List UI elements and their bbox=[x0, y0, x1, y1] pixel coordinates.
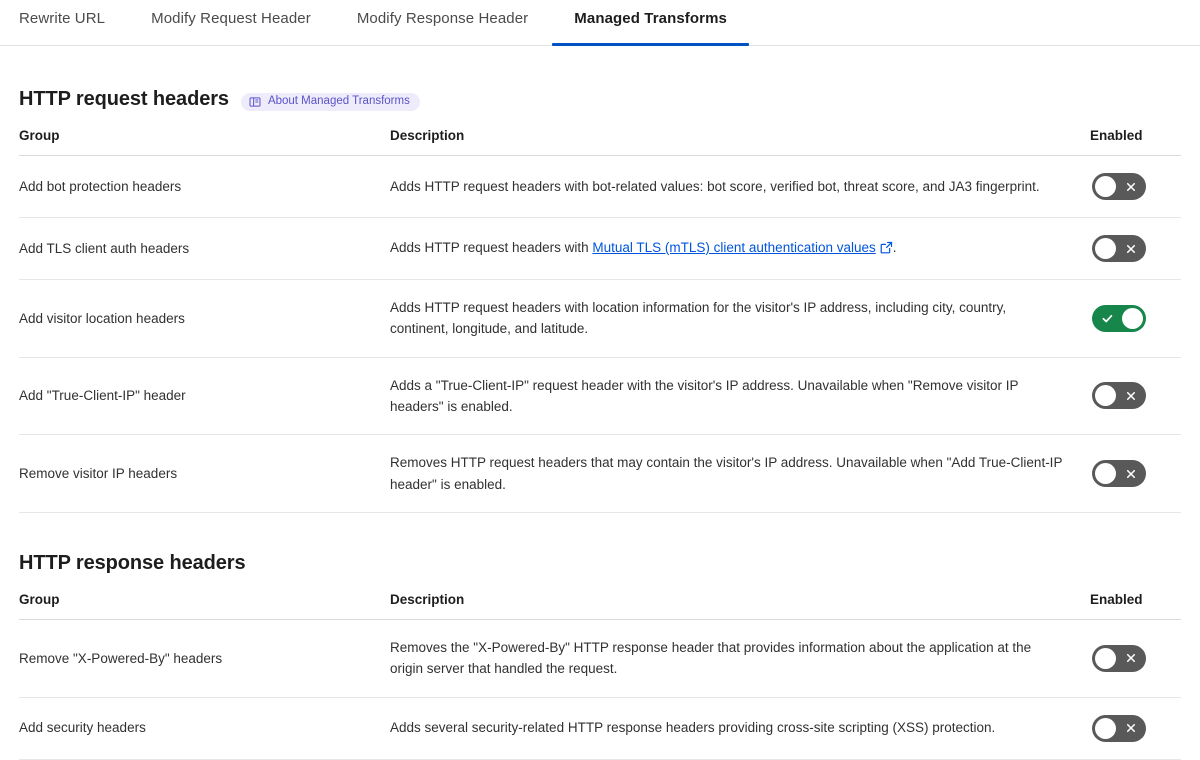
toggle-mark-icon bbox=[1116, 460, 1146, 487]
external-link-icon bbox=[880, 239, 893, 260]
toggle-mark-icon bbox=[1116, 173, 1146, 200]
row-group-name: Add security headers bbox=[19, 697, 390, 759]
mtls-documentation-link[interactable]: Mutual TLS (mTLS) client authentication … bbox=[592, 240, 875, 255]
section-header: HTTP request headersAbout Managed Transf… bbox=[19, 46, 1181, 111]
column-header-description: Description bbox=[390, 592, 1090, 620]
table-header-row: GroupDescriptionEnabled bbox=[19, 128, 1181, 156]
section-title: HTTP request headers bbox=[19, 88, 229, 111]
table-row: Add "True-Client-IP" headerAdds a "True-… bbox=[19, 357, 1181, 435]
toggle-enabled-off[interactable] bbox=[1092, 382, 1146, 409]
description-text: Adds HTTP request headers with location … bbox=[390, 300, 1006, 336]
tab-modify-response-header[interactable]: Modify Response Header bbox=[357, 0, 528, 26]
row-description: Adds HTTP request headers with Mutual TL… bbox=[390, 218, 1090, 280]
row-group-name: Remove visitor IP headers bbox=[19, 435, 390, 513]
toggle-enabled-off[interactable] bbox=[1092, 173, 1146, 200]
toggle-knob bbox=[1095, 176, 1116, 197]
row-enabled-cell bbox=[1090, 435, 1181, 513]
description-text: Adds HTTP request headers with bot-relat… bbox=[390, 179, 1040, 194]
managed-transforms-table: GroupDescriptionEnabledAdd bot protectio… bbox=[19, 128, 1181, 513]
managed-transforms-table: GroupDescriptionEnabledRemove "X-Powered… bbox=[19, 592, 1181, 760]
toggle-enabled-off[interactable] bbox=[1092, 715, 1146, 742]
toggle-knob bbox=[1095, 718, 1116, 739]
section-header: HTTP response headers bbox=[19, 513, 1181, 575]
table-row: Add TLS client auth headersAdds HTTP req… bbox=[19, 218, 1181, 280]
row-group-name: Add TLS client auth headers bbox=[19, 218, 390, 280]
toggle-enabled-on[interactable] bbox=[1092, 305, 1146, 332]
column-header-enabled: Enabled bbox=[1090, 592, 1181, 620]
toggle-knob bbox=[1122, 308, 1143, 329]
row-description: Removes HTTP request headers that may co… bbox=[390, 435, 1090, 513]
row-enabled-cell bbox=[1090, 357, 1181, 435]
column-header-group: Group bbox=[19, 592, 390, 620]
row-description: Adds HTTP request headers with location … bbox=[390, 280, 1090, 358]
description-text: Removes the "X-Powered-By" HTTP response… bbox=[390, 640, 1031, 676]
toggle-knob bbox=[1095, 648, 1116, 669]
table-row: Remove "X-Powered-By" headersRemoves the… bbox=[19, 619, 1181, 697]
table-row: Remove visitor IP headersRemoves HTTP re… bbox=[19, 435, 1181, 513]
row-enabled-cell bbox=[1090, 619, 1181, 697]
toggle-mark-icon bbox=[1116, 645, 1146, 672]
description-text-prefix: Adds HTTP request headers with bbox=[390, 240, 592, 255]
toggle-knob bbox=[1095, 238, 1116, 259]
toggle-mark-icon bbox=[1116, 715, 1146, 742]
column-header-group: Group bbox=[19, 128, 390, 156]
description-text-suffix: . bbox=[893, 240, 897, 255]
row-description: Adds a "True-Client-IP" request header w… bbox=[390, 357, 1090, 435]
table-row: Add visitor location headersAdds HTTP re… bbox=[19, 280, 1181, 358]
row-group-name: Remove "X-Powered-By" headers bbox=[19, 619, 390, 697]
toggle-mark-icon bbox=[1092, 305, 1122, 332]
row-description: Adds HTTP request headers with bot-relat… bbox=[390, 156, 1090, 218]
column-header-enabled: Enabled bbox=[1090, 128, 1181, 156]
book-icon bbox=[249, 96, 261, 108]
section-title: HTTP response headers bbox=[19, 552, 246, 575]
toggle-enabled-off[interactable] bbox=[1092, 645, 1146, 672]
section-http-request-headers: HTTP request headersAbout Managed Transf… bbox=[0, 46, 1200, 513]
description-text: Adds a "True-Client-IP" request header w… bbox=[390, 378, 1018, 414]
tab-rewrite-url[interactable]: Rewrite URL bbox=[19, 0, 105, 26]
toggle-mark-icon bbox=[1116, 382, 1146, 409]
toggle-knob bbox=[1095, 385, 1116, 406]
toggle-enabled-off[interactable] bbox=[1092, 235, 1146, 262]
column-header-description: Description bbox=[390, 128, 1090, 156]
tab-modify-request-header[interactable]: Modify Request Header bbox=[151, 0, 311, 26]
description-text: Removes HTTP request headers that may co… bbox=[390, 455, 1062, 491]
table-row: Add security headersAdds several securit… bbox=[19, 697, 1181, 759]
row-group-name: Add "True-Client-IP" header bbox=[19, 357, 390, 435]
row-enabled-cell bbox=[1090, 697, 1181, 759]
about-managed-transforms-badge[interactable]: About Managed Transforms bbox=[241, 93, 420, 111]
row-description: Adds several security-related HTTP respo… bbox=[390, 697, 1090, 759]
row-description: Removes the "X-Powered-By" HTTP response… bbox=[390, 619, 1090, 697]
tab-managed-transforms[interactable]: Managed Transforms bbox=[574, 0, 727, 26]
toggle-enabled-off[interactable] bbox=[1092, 460, 1146, 487]
row-enabled-cell bbox=[1090, 280, 1181, 358]
toggle-knob bbox=[1095, 463, 1116, 484]
about-badge-label: About Managed Transforms bbox=[268, 96, 410, 108]
section-http-response-headers: HTTP response headersGroupDescriptionEna… bbox=[0, 513, 1200, 760]
tab-bar: Rewrite URLModify Request HeaderModify R… bbox=[0, 0, 1200, 46]
row-group-name: Add bot protection headers bbox=[19, 156, 390, 218]
table-row: Add bot protection headersAdds HTTP requ… bbox=[19, 156, 1181, 218]
row-enabled-cell bbox=[1090, 156, 1181, 218]
description-text: Adds several security-related HTTP respo… bbox=[390, 720, 995, 735]
row-group-name: Add visitor location headers bbox=[19, 280, 390, 358]
row-enabled-cell bbox=[1090, 218, 1181, 280]
table-header-row: GroupDescriptionEnabled bbox=[19, 592, 1181, 620]
toggle-mark-icon bbox=[1116, 235, 1146, 262]
